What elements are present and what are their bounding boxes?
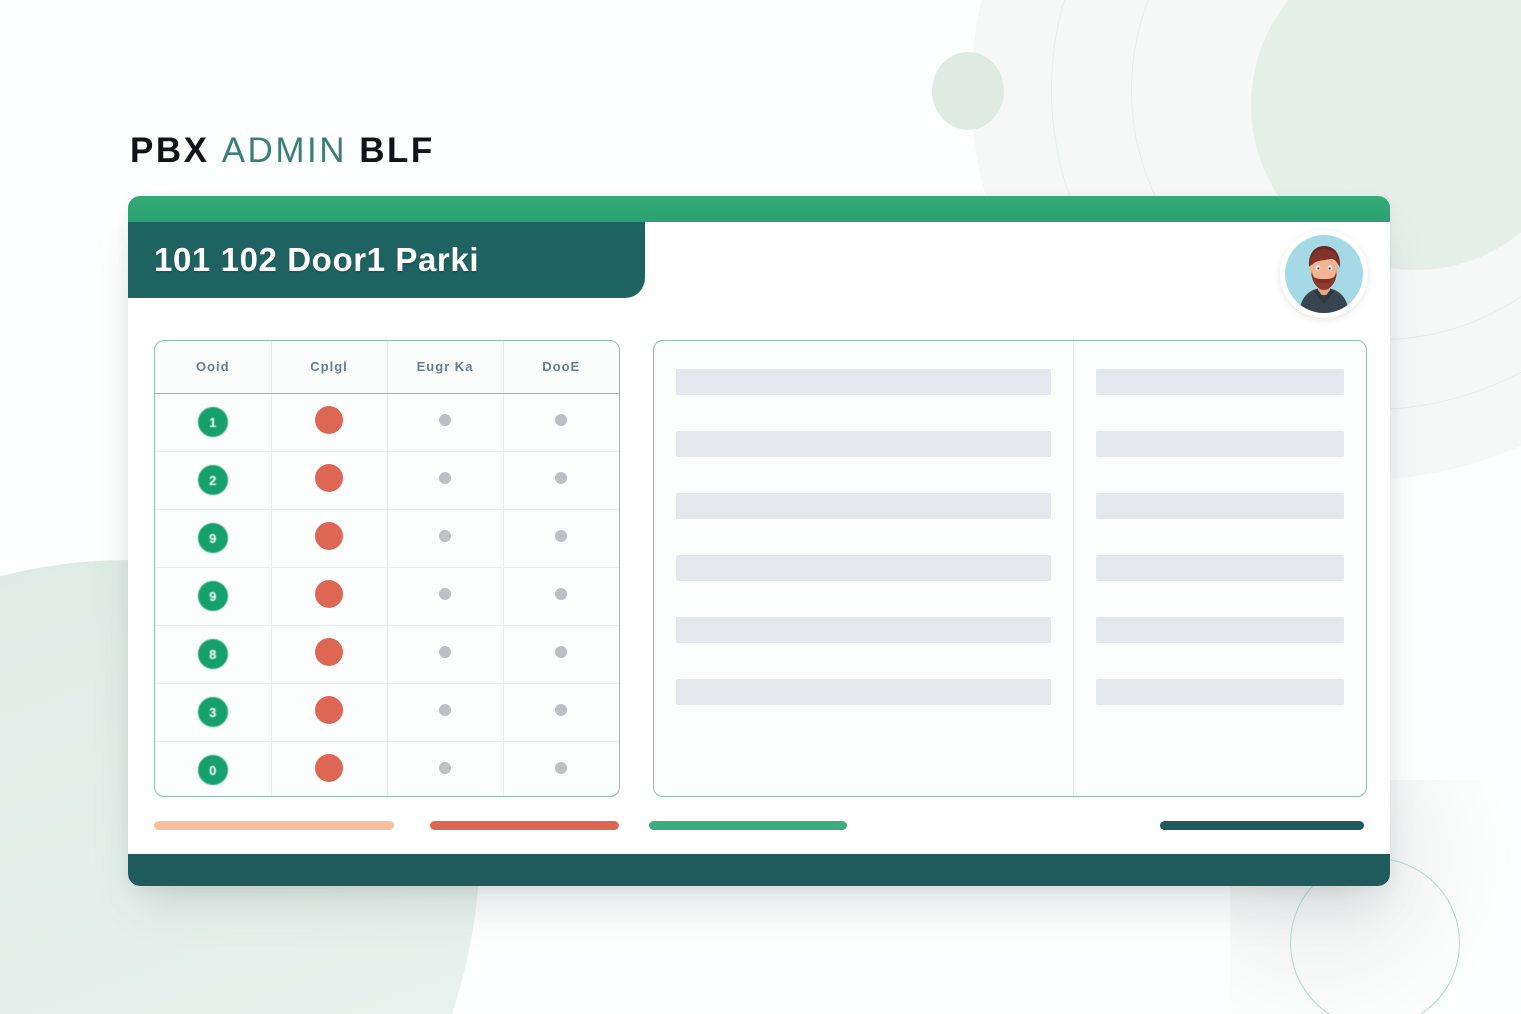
page-title-part-1: PBX xyxy=(130,131,209,170)
status-dot-idle-icon xyxy=(555,762,567,774)
row-id-badge: 2 xyxy=(198,465,228,495)
table-body: 1299830 xyxy=(155,393,619,797)
status-cell-col4 xyxy=(503,393,619,451)
status-cell-col3 xyxy=(387,393,503,451)
status-cell-busy xyxy=(271,625,387,683)
status-cell-col4 xyxy=(503,683,619,741)
status-cell-col3 xyxy=(387,741,503,797)
status-dot-idle-icon xyxy=(439,472,451,484)
row-id-badge: 8 xyxy=(198,639,228,669)
table-row[interactable]: 8 xyxy=(155,625,619,683)
status-cell-col3 xyxy=(387,567,503,625)
status-cell-col4 xyxy=(503,567,619,625)
blf-table-card: Ooid Cplgl Eugr Ka DooE 1299830 xyxy=(154,340,620,797)
status-cell-busy xyxy=(271,451,387,509)
table-row[interactable]: 9 xyxy=(155,509,619,567)
table-row[interactable]: 2 xyxy=(155,451,619,509)
placeholder-bar xyxy=(1096,555,1344,581)
status-dot-idle-icon xyxy=(439,646,451,658)
detail-panel-right-column xyxy=(1074,341,1366,796)
status-dot-idle-icon xyxy=(439,704,451,716)
row-id-cell: 9 xyxy=(155,509,271,567)
blf-table: Ooid Cplgl Eugr Ka DooE 1299830 xyxy=(155,341,619,797)
placeholder-bar xyxy=(1096,617,1344,643)
status-cell-busy xyxy=(271,741,387,797)
table-header-row: Ooid Cplgl Eugr Ka DooE xyxy=(155,341,619,393)
row-id-cell: 1 xyxy=(155,393,271,451)
placeholder-bar xyxy=(1096,431,1344,457)
placeholder-bar xyxy=(676,369,1051,395)
placeholder-bar xyxy=(676,555,1051,581)
placeholder-bar xyxy=(1096,679,1344,705)
row-id-cell: 3 xyxy=(155,683,271,741)
row-id-badge: 0 xyxy=(198,755,228,785)
status-dot-idle-icon xyxy=(439,588,451,600)
placeholder-bar xyxy=(676,617,1051,643)
status-cell-busy xyxy=(271,683,387,741)
row-id-cell: 0 xyxy=(155,741,271,797)
placeholder-bar xyxy=(676,431,1051,457)
status-dot-busy-icon xyxy=(315,406,343,434)
status-dot-idle-icon xyxy=(555,588,567,600)
status-cell-col3 xyxy=(387,625,503,683)
row-id-badge: 9 xyxy=(198,581,228,611)
column-header-1[interactable]: Ooid xyxy=(155,341,271,393)
window-top-bar xyxy=(128,196,1390,222)
status-cell-col3 xyxy=(387,451,503,509)
status-cell-busy xyxy=(271,509,387,567)
app-window: 101 102 Door1 Parki xyxy=(128,196,1390,886)
banner-title: 101 102 Door1 Parki xyxy=(154,241,479,279)
page-title-part-2: ADMIN xyxy=(222,131,347,170)
row-id-cell: 2 xyxy=(155,451,271,509)
status-cell-col4 xyxy=(503,451,619,509)
window-footer-bar xyxy=(128,854,1390,886)
app-stage: PBX ADMIN BLF 101 102 Door1 Parki xyxy=(0,0,1521,1014)
status-cell-busy xyxy=(271,393,387,451)
column-header-3[interactable]: Eugr Ka xyxy=(387,341,503,393)
table-head: Ooid Cplgl Eugr Ka DooE xyxy=(155,341,619,393)
placeholder-bar xyxy=(1096,493,1344,519)
status-dot-idle-icon xyxy=(439,762,451,774)
placeholder-bar xyxy=(676,493,1051,519)
status-dot-busy-icon xyxy=(315,638,343,666)
status-dot-idle-icon xyxy=(439,414,451,426)
progress-bar-row xyxy=(154,821,1364,830)
status-cell-col4 xyxy=(503,509,619,567)
status-dot-busy-icon xyxy=(315,464,343,492)
placeholder-bar xyxy=(676,679,1051,705)
row-id-cell: 8 xyxy=(155,625,271,683)
row-id-badge: 1 xyxy=(198,407,228,437)
status-dot-busy-icon xyxy=(315,580,343,608)
table-row[interactable]: 9 xyxy=(155,567,619,625)
segment-teal[interactable] xyxy=(1160,821,1364,830)
segment-peach[interactable] xyxy=(154,821,394,830)
status-cell-busy xyxy=(271,567,387,625)
status-dot-busy-icon xyxy=(315,696,343,724)
status-dot-idle-icon xyxy=(555,472,567,484)
background-dot-small xyxy=(932,52,1004,130)
table-row[interactable]: 3 xyxy=(155,683,619,741)
page-title: PBX ADMIN BLF xyxy=(130,131,435,171)
status-dot-idle-icon xyxy=(439,530,451,542)
segment-coral[interactable] xyxy=(430,821,620,830)
status-cell-col3 xyxy=(387,683,503,741)
segment-green[interactable] xyxy=(649,821,847,830)
row-id-cell: 9 xyxy=(155,567,271,625)
table-row[interactable]: 0 xyxy=(155,741,619,797)
progress-gap xyxy=(394,821,430,830)
progress-gap xyxy=(847,821,1160,830)
column-header-2[interactable]: Cplgl xyxy=(271,341,387,393)
status-dot-idle-icon xyxy=(555,646,567,658)
avatar-person-icon xyxy=(1285,235,1363,313)
row-id-badge: 9 xyxy=(198,523,228,553)
status-dot-busy-icon xyxy=(315,522,343,550)
status-dot-idle-icon xyxy=(555,530,567,542)
status-dot-idle-icon xyxy=(555,704,567,716)
page-title-part-3: BLF xyxy=(359,131,435,170)
avatar[interactable] xyxy=(1280,230,1368,318)
window-body: 101 102 Door1 Parki xyxy=(128,222,1390,854)
progress-gap xyxy=(619,821,649,830)
column-header-4[interactable]: DooE xyxy=(503,341,619,393)
avatar-image xyxy=(1285,235,1363,313)
status-dot-idle-icon xyxy=(555,414,567,426)
detail-panel-left-column xyxy=(654,341,1074,796)
status-dot-busy-icon xyxy=(315,754,343,782)
header-banner: 101 102 Door1 Parki xyxy=(128,222,645,298)
status-cell-col3 xyxy=(387,509,503,567)
detail-panel-card xyxy=(653,340,1367,797)
table-row[interactable]: 1 xyxy=(155,393,619,451)
status-cell-col4 xyxy=(503,741,619,797)
placeholder-bar xyxy=(1096,369,1344,395)
status-cell-col4 xyxy=(503,625,619,683)
row-id-badge: 3 xyxy=(198,697,228,727)
